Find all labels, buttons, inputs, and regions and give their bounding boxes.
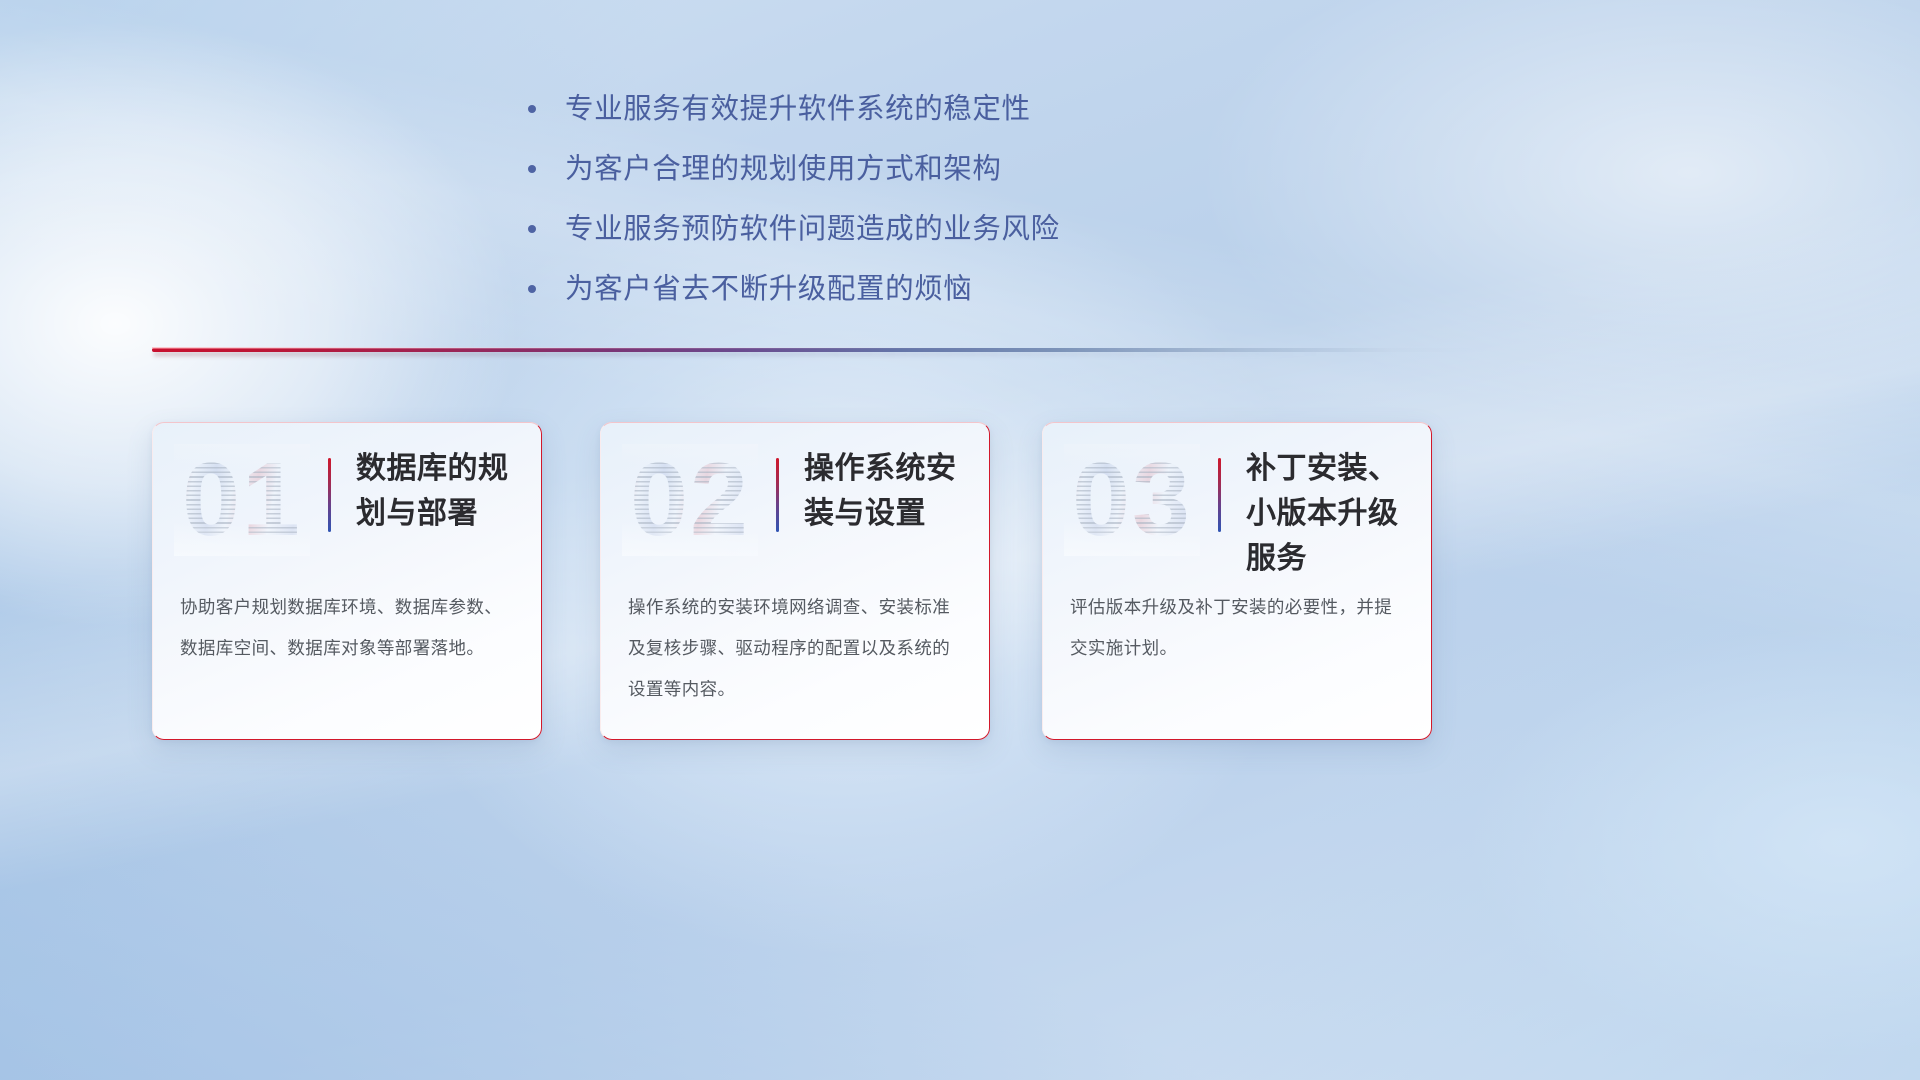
card-description: 评估版本升级及补丁安装的必要性，并提交实施计划。 xyxy=(1070,587,1408,669)
bullet-item-label: 为客户省去不断升级配置的烦恼 xyxy=(565,268,972,310)
benefits-bullet-list: 专业服务有效提升软件系统的稳定性 为客户合理的规划使用方式和架构 专业服务预防软… xyxy=(528,88,1228,328)
card-title-accent-bar xyxy=(776,458,779,532)
bullet-item-1: 专业服务有效提升软件系统的稳定性 xyxy=(528,88,1228,130)
bullet-item-label: 为客户合理的规划使用方式和架构 xyxy=(565,148,1002,190)
bullet-dot-icon xyxy=(528,225,536,233)
divider-gradient-line xyxy=(152,348,1487,352)
bullet-item-label: 专业服务有效提升软件系统的稳定性 xyxy=(565,88,1031,130)
bullet-item-3: 专业服务预防软件问题造成的业务风险 xyxy=(528,208,1228,250)
card-number-watermark: 01 xyxy=(174,444,310,556)
section-divider xyxy=(152,344,1487,358)
service-card-03[interactable]: 03 补丁安装、小版本升级服务 评估版本升级及补丁安装的必要性，并提交实施计划。 xyxy=(1042,422,1432,740)
card-title-accent-bar xyxy=(1218,458,1221,532)
card-header: 02 操作系统安装与设置 xyxy=(600,422,990,572)
card-title: 操作系统安装与设置 xyxy=(804,446,970,536)
card-number-watermark: 02 xyxy=(622,444,758,556)
card-title: 补丁安装、小版本升级服务 xyxy=(1246,446,1412,581)
bullet-item-label: 专业服务预防软件问题造成的业务风险 xyxy=(565,208,1060,250)
card-header: 03 补丁安装、小版本升级服务 xyxy=(1042,422,1432,572)
divider-highlight xyxy=(152,347,1487,349)
service-card-list: 01 数据库的规划与部署 协助客户规划数据库环境、数据库参数、数据库空间、数据库… xyxy=(152,422,1442,742)
bullet-dot-icon xyxy=(528,105,536,113)
card-title-accent-bar xyxy=(328,458,331,532)
card-description: 操作系统的安装环境网络调查、安装标准及复核步骤、驱动程序的配置以及系统的设置等内… xyxy=(628,587,966,710)
card-title: 数据库的规划与部署 xyxy=(356,446,522,536)
bullet-dot-icon xyxy=(528,285,536,293)
bullet-item-2: 为客户合理的规划使用方式和架构 xyxy=(528,148,1228,190)
bullet-item-4: 为客户省去不断升级配置的烦恼 xyxy=(528,268,1228,310)
card-number-watermark: 03 xyxy=(1064,444,1200,556)
card-header: 01 数据库的规划与部署 xyxy=(152,422,542,572)
bullet-dot-icon xyxy=(528,165,536,173)
divider-shadow xyxy=(154,352,1481,356)
service-card-01[interactable]: 01 数据库的规划与部署 协助客户规划数据库环境、数据库参数、数据库空间、数据库… xyxy=(152,422,542,740)
card-description: 协助客户规划数据库环境、数据库参数、数据库空间、数据库对象等部署落地。 xyxy=(180,587,518,669)
service-card-02[interactable]: 02 操作系统安装与设置 操作系统的安装环境网络调查、安装标准及复核步骤、驱动程… xyxy=(600,422,990,740)
